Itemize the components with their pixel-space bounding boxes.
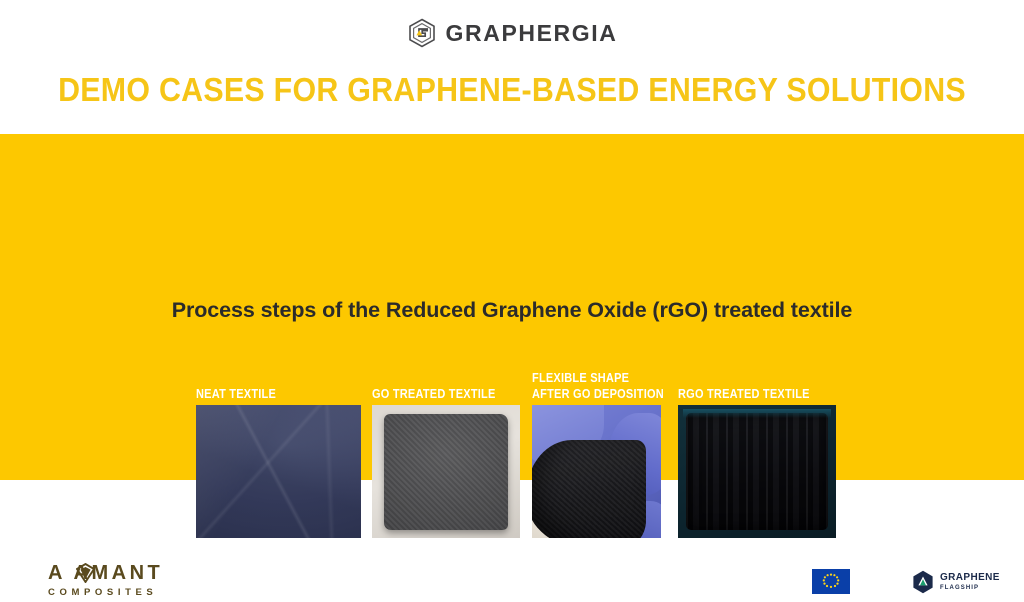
eu-funding-logo: Funded by the European Union — [812, 569, 927, 594]
eu-funding-line1: Funded by — [856, 572, 894, 581]
content-band: Process steps of the Reduced Graphene Ox… — [0, 134, 1024, 480]
neat-textile-photo — [196, 405, 361, 538]
adamant-composites-logo: A AMANT COMPOSITES — [48, 562, 208, 602]
graphene-flagship-text: GRAPHENE FLAGSHIP — [940, 573, 1000, 591]
adamant-wordmark: A AMANT — [48, 563, 163, 583]
graphergia-hexagon-logo-icon — [407, 18, 437, 48]
diamond-icon — [76, 563, 95, 583]
step-caption: NEAT TEXTILE — [196, 386, 276, 402]
step-caption-line2: AFTER GO DEPOSITION — [532, 386, 664, 402]
eu-flag-icon — [812, 569, 850, 594]
graphene-flagship-hexagon-icon — [912, 570, 934, 594]
step-caption-line1: FLEXIBLE SHAPE — [532, 371, 629, 385]
process-steps: NEAT TEXTILE GO TREATED TEXTILE FLEXIBLE… — [196, 342, 836, 538]
go-treated-textile-photo — [372, 405, 520, 538]
page-title: DEMO CASES FOR GRAPHENE-BASED ENERGY SOL… — [41, 71, 983, 109]
section-subtitle: Process steps of the Reduced Graphene Ox… — [0, 298, 1024, 323]
graphene-flagship-logo: GRAPHENE FLAGSHIP — [912, 570, 1000, 594]
step-caption-line1: GO TREATED TEXTILE — [372, 387, 496, 401]
step-caption: FLEXIBLE SHAPE AFTER GO DEPOSITION — [532, 370, 664, 402]
step-caption: GO TREATED TEXTILE — [372, 386, 496, 402]
brand-name: GRAPHERGIA — [446, 22, 618, 45]
adamant-subtitle: COMPOSITES — [48, 587, 208, 598]
step-caption-line1: RGO TREATED TEXTILE — [678, 387, 810, 401]
header-band: GRAPHERGIA DEMO CASES FOR GRAPHENE-BASED… — [0, 0, 1024, 134]
step-caption-line1: NEAT TEXTILE — [196, 387, 276, 401]
graphene-flagship-subtitle: FLAGSHIP — [940, 585, 1000, 591]
flexible-shape-photo — [532, 405, 661, 538]
graphene-flagship-name: GRAPHENE — [940, 573, 1000, 583]
brand-logo: GRAPHERGIA — [0, 16, 1024, 50]
step-caption: RGO TREATED TEXTILE — [678, 386, 810, 402]
rgo-treated-textile-photo — [678, 405, 836, 538]
